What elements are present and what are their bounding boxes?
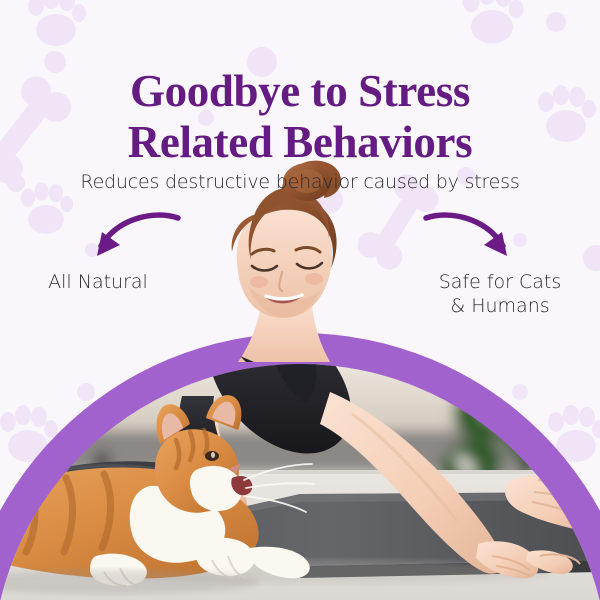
page-title: Goodbye to Stress Related Behaviors (0, 66, 600, 167)
subtitle: Reduces destructive behavior caused by s… (0, 171, 600, 193)
headline-line-1: Goodbye to Stress (0, 66, 600, 116)
curved-arrow-down-left-icon (84, 212, 180, 272)
callout-left-line-1: All Natural (48, 271, 148, 293)
callout-right-line-2: & Humans (450, 295, 549, 317)
feature-callout-all-natural: All Natural (18, 270, 178, 294)
feature-callout-safe-for-cats: Safe for Cats & Humans (414, 270, 586, 319)
headline-line-2: Related Behaviors (0, 117, 600, 167)
curved-arrow-down-right-icon (424, 212, 520, 272)
yoga-with-cat-photo (0, 364, 600, 600)
hero-photo (0, 364, 600, 600)
promotional-ad-canvas: Goodbye to Stress Related Behaviors Redu… (0, 0, 600, 600)
callout-right-line-1: Safe for Cats (439, 271, 562, 293)
